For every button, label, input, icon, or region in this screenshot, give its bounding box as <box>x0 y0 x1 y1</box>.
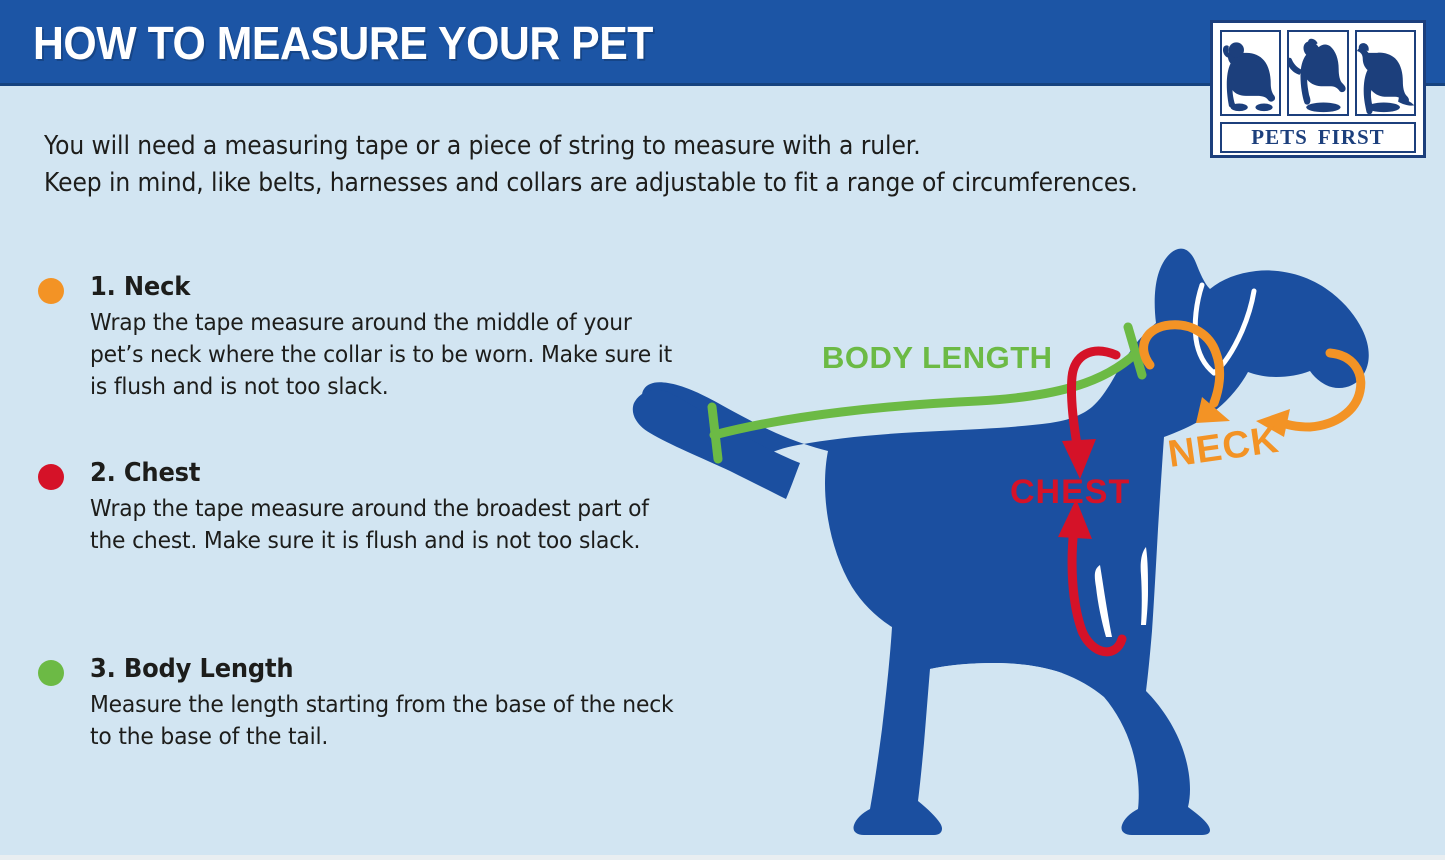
step-body-length: 3. Body Length Measure the length starti… <box>38 652 638 752</box>
bullet-red-icon <box>38 464 64 490</box>
step-chest-title: 2. Chest <box>90 456 600 490</box>
step-body-length-title: 3. Body Length <box>90 652 600 686</box>
dog-begging-icon <box>1289 32 1346 114</box>
dog-sitting-icon <box>1222 32 1279 114</box>
bullet-orange-icon <box>38 278 64 304</box>
logo-word-first: FIRST <box>1318 127 1385 148</box>
dog-sitting-side-icon <box>1357 32 1414 114</box>
measure-guide-page: HOW TO MEASURE YOUR PET <box>0 0 1445 860</box>
intro-paragraph: You will need a measuring tape or a piec… <box>44 128 1224 202</box>
page-title: HOW TO MEASURE YOUR PET <box>33 16 653 70</box>
logo-wordmark: PETS FIRST <box>1220 122 1416 153</box>
step-chest: 2. Chest Wrap the tape measure around th… <box>38 456 638 556</box>
logo-frame-1 <box>1220 30 1281 116</box>
logo-word-pets: PETS <box>1251 127 1308 148</box>
pets-first-logo: PETS FIRST <box>1210 20 1426 158</box>
dog-silhouette-icon <box>633 249 1369 835</box>
intro-line-1: You will need a measuring tape or a piec… <box>44 128 1130 165</box>
body-length-end-tick-left <box>712 407 718 459</box>
bottom-strip <box>0 855 1445 860</box>
step-chest-body: Wrap the tape measure around the broades… <box>90 492 685 556</box>
dog-measurement-diagram: BODY LENGTH NECK CHEST <box>630 235 1445 860</box>
logo-frame-3 <box>1355 30 1416 116</box>
logo-frame-row <box>1220 30 1416 116</box>
step-neck-title: 1. Neck <box>90 270 600 304</box>
bullet-green-icon <box>38 660 64 686</box>
step-body-length-body: Measure the length starting from the bas… <box>90 688 685 752</box>
chest-label: CHEST <box>1010 473 1130 511</box>
step-neck-body: Wrap the tape measure around the middle … <box>90 306 685 402</box>
step-neck: 1. Neck Wrap the tape measure around the… <box>38 270 638 402</box>
body-length-label: BODY LENGTH <box>822 340 1053 375</box>
intro-line-2: Keep in mind, like belts, harnesses and … <box>44 165 1130 202</box>
logo-frame-2 <box>1287 30 1348 116</box>
